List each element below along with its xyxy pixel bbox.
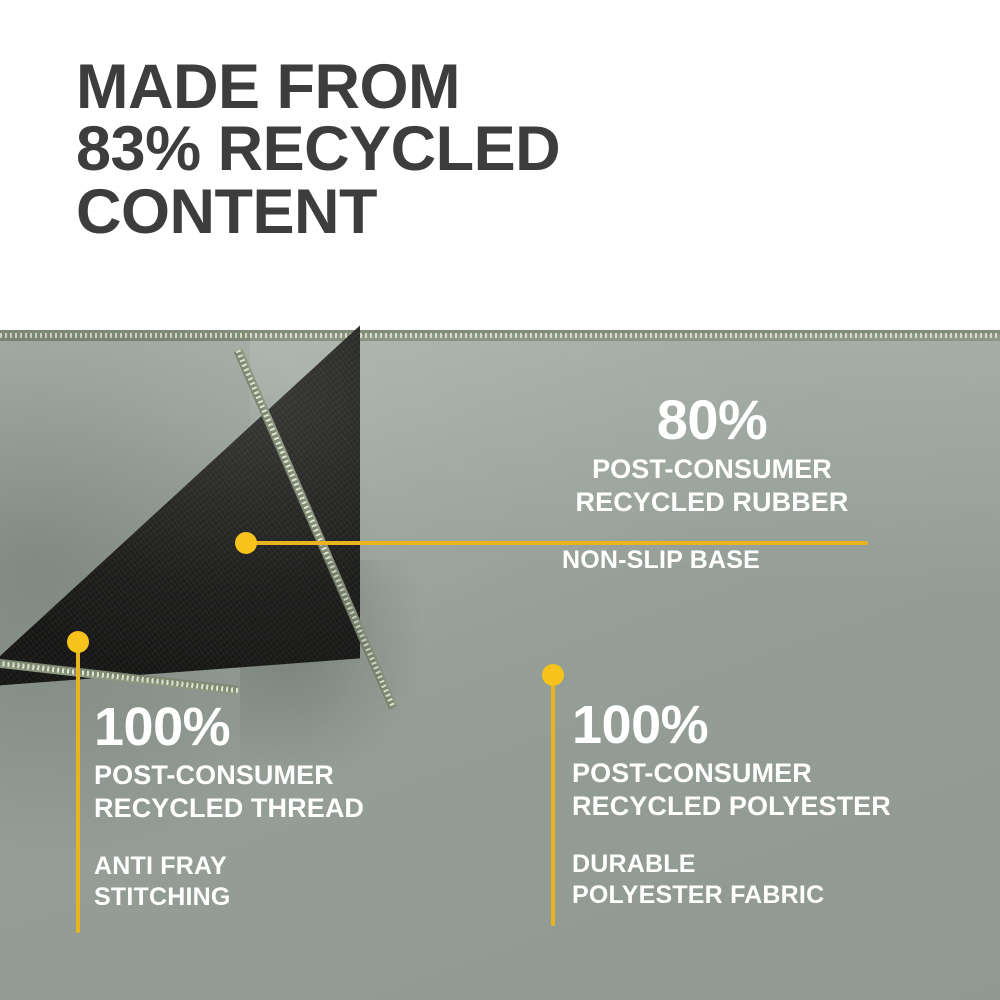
- callout-rubber-material-line-2: RECYCLED RUBBER: [562, 486, 862, 519]
- callout-thread-material-line-2: RECYCLED THREAD: [94, 792, 494, 825]
- anchor-dot-rubber: [235, 532, 257, 554]
- callout-polyester-percent: 100%: [572, 698, 992, 752]
- callout-polyester: 100% POST-CONSUMER RECYCLED POLYESTER DU…: [572, 698, 992, 911]
- headline-line-3: CONTENT: [76, 181, 776, 243]
- callout-rubber-material-line-1: POST-CONSUMER: [562, 453, 862, 486]
- anchor-dot-polyester: [542, 664, 564, 686]
- callout-rubber-feature-line-1: NON-SLIP BASE: [562, 545, 982, 576]
- callout-polyester-feature-line-2: POLYESTER FABRIC: [572, 880, 992, 911]
- callout-thread-percent: 100%: [94, 700, 494, 754]
- folded-corner: [0, 318, 360, 688]
- callout-thread-feature-line-1: ANTI FRAY: [94, 851, 494, 882]
- infographic-canvas: MADE FROM 83% RECYCLED CONTENT 80% POST-…: [0, 0, 1000, 1000]
- callout-rubber-percent: 80%: [562, 392, 862, 448]
- leader-line-polyester: [551, 678, 555, 926]
- callout-rubber: 80% POST-CONSUMER RECYCLED RUBBER NON-SL…: [562, 392, 982, 576]
- callout-polyester-material-line-1: POST-CONSUMER: [572, 757, 992, 790]
- headline-line-2: 83% RECYCLED: [76, 118, 776, 180]
- page-title: MADE FROM 83% RECYCLED CONTENT: [76, 56, 776, 243]
- callout-polyester-material-line-2: RECYCLED POLYESTER: [572, 790, 992, 823]
- headline-line-1: MADE FROM: [76, 56, 776, 118]
- callout-thread-material-line-1: POST-CONSUMER: [94, 759, 494, 792]
- leader-line-thread: [76, 645, 80, 933]
- callout-thread: 100% POST-CONSUMER RECYCLED THREAD ANTI …: [94, 700, 494, 913]
- anchor-dot-thread: [67, 631, 89, 653]
- callout-polyester-feature-line-1: DURABLE: [572, 849, 992, 880]
- callout-thread-feature-line-2: STITCHING: [94, 882, 494, 913]
